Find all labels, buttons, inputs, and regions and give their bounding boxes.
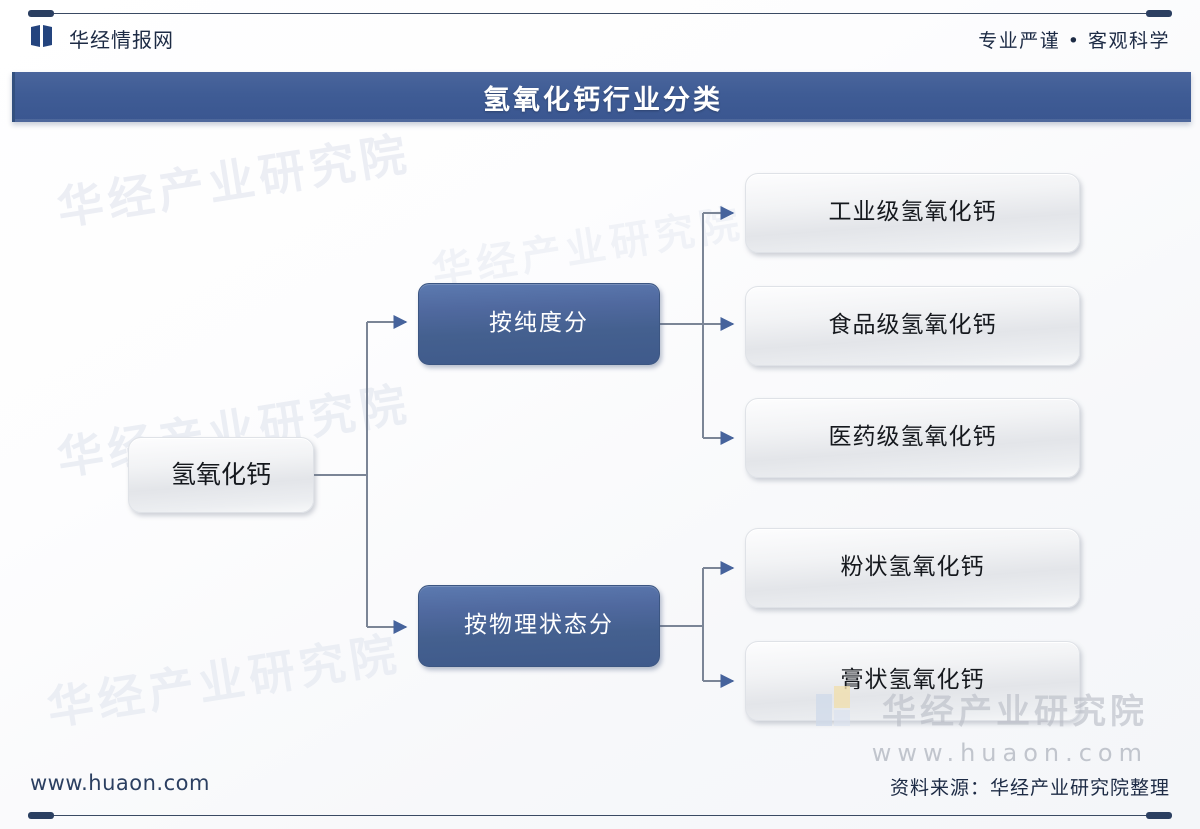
node-leaf-food-grade[interactable]: 食品级氢氧化钙 <box>745 286 1080 366</box>
brand: 华经情报网 <box>30 24 174 53</box>
node-root-label: 氢氧化钙 <box>171 461 271 489</box>
node-leaf-paste-form-label: 膏状氢氧化钙 <box>841 668 985 693</box>
bottom-divider-rule <box>40 815 1160 816</box>
node-leaf-powder-form[interactable]: 粉状氢氧化钙 <box>745 528 1080 608</box>
rule-cap-right-icon <box>1146 812 1172 819</box>
brand-name: 华经情报网 <box>69 24 174 53</box>
header-slogan: 专业严谨 • 客观科学 <box>978 26 1170 53</box>
footer-site-url[interactable]: www.huaon.com <box>30 771 210 795</box>
page-header: 华经情报网 专业严谨 • 客观科学 <box>0 20 1200 64</box>
diagram-canvas: 氢氧化钙 按纯度分 按物理状态分 工业级氢氧化钙 食品级氢氧化钙 医药级氢氧化钙… <box>0 128 1200 768</box>
node-leaf-industrial-grade[interactable]: 工业级氢氧化钙 <box>745 173 1080 253</box>
rule-cap-left-icon <box>28 812 54 819</box>
page-title-band: 氢氧化钙行业分类 <box>12 72 1191 122</box>
node-root[interactable]: 氢氧化钙 <box>128 437 314 513</box>
node-branch-physical-state-label: 按物理状态分 <box>464 613 614 638</box>
node-leaf-paste-form[interactable]: 膏状氢氧化钙 <box>745 641 1080 721</box>
node-branch-physical-state[interactable]: 按物理状态分 <box>418 585 660 667</box>
node-leaf-pharmaceutical-grade-label: 医药级氢氧化钙 <box>829 425 997 450</box>
rule-cap-left-icon <box>28 10 54 17</box>
page-background: 华经情报网 专业严谨 • 客观科学 氢氧化钙行业分类 华经产业研究院 华经产业研… <box>0 0 1200 829</box>
node-branch-purity[interactable]: 按纯度分 <box>418 283 660 365</box>
node-branch-purity-label: 按纯度分 <box>489 311 589 336</box>
node-leaf-food-grade-label: 食品级氢氧化钙 <box>829 313 997 338</box>
node-leaf-pharmaceutical-grade[interactable]: 医药级氢氧化钙 <box>745 398 1080 478</box>
page-title: 氢氧化钙行业分类 <box>483 78 723 117</box>
rule-cap-right-icon <box>1146 10 1172 17</box>
top-divider-rule <box>40 13 1160 14</box>
book-logo-icon <box>30 25 58 52</box>
node-leaf-industrial-grade-label: 工业级氢氧化钙 <box>829 200 997 225</box>
node-leaf-powder-form-label: 粉状氢氧化钙 <box>841 555 985 580</box>
page-footer: www.huaon.com 资料来源：华经产业研究院整理 <box>0 771 1200 805</box>
footer-source-note: 资料来源：华经产业研究院整理 <box>890 773 1170 800</box>
